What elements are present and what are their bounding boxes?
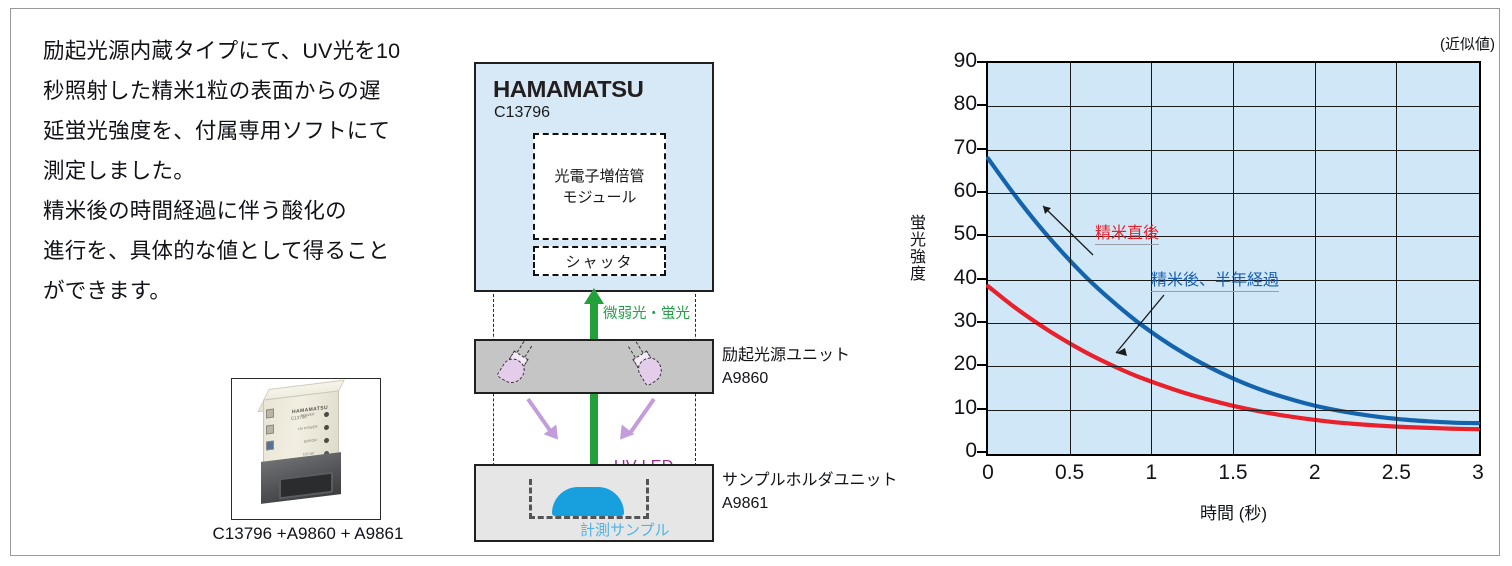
- chart-y-tick-mark: [977, 408, 986, 410]
- chart-plot-area: [986, 61, 1481, 456]
- excitation-unit-label: 励起光源ユニット A9860: [722, 344, 850, 390]
- description-line-5: 精米後の時間経過に伴う酸化の: [43, 191, 443, 231]
- product-photo-port-3: [266, 441, 274, 451]
- chart-y-tick-mark: [977, 148, 986, 150]
- chart-y-tick-mark: [977, 451, 986, 453]
- chart-y-tick-mark: [977, 321, 986, 323]
- description-text-block: 励起光源内蔵タイプにて、UV光を10 秒照射した精米1粒の表面からの遅 延蛍光強…: [43, 31, 443, 311]
- chart-y-tick-label: 90: [937, 49, 977, 73]
- chart-y-tick-label: 20: [937, 352, 977, 376]
- chart-y-tick-label: 40: [937, 266, 977, 290]
- chart-gridline-vertical: [1151, 63, 1152, 454]
- chart-y-tick-label: 80: [937, 92, 977, 116]
- product-photo-port-2: [266, 425, 274, 435]
- fluorescence-decay-chart: (近似値) 蛍光強度 時間 (秒) 精米直後 精米後、半年経過 01020304…: [901, 29, 1501, 549]
- chart-y-tick-mark: [977, 234, 986, 236]
- schematic-diagram: HAMAMATSU C13796 光電子増倍管モジュール シャッタ 微弱光・蛍光: [466, 54, 916, 549]
- uv-beam-right: [628, 398, 655, 435]
- chart-x-tick-label: 2.5: [1366, 461, 1426, 485]
- chart-gridline-vertical: [1396, 63, 1397, 454]
- annotation-direct-after-polishing: 精米直後: [1095, 219, 1159, 245]
- chart-approx-note: (近似値): [1440, 33, 1495, 54]
- product-photo-port-1: [266, 409, 274, 419]
- shutter-box: シャッタ: [533, 246, 666, 276]
- figure-frame: 励起光源内蔵タイプにて、UV光を10 秒照射した精米1粒の表面からの遅 延蛍光強…: [10, 8, 1500, 556]
- product-photo-caption: C13796 +A9860 + A9861: [158, 524, 458, 544]
- description-line-1: 励起光源内蔵タイプにて、UV光を10: [43, 31, 443, 71]
- chart-gridline-vertical: [1233, 63, 1234, 454]
- main-detector-unit-box: HAMAMATSU C13796 光電子増倍管モジュール シャッタ: [474, 62, 714, 292]
- chart-x-tick-label: 0: [958, 461, 1018, 485]
- excitation-unit-model: A9860: [722, 370, 768, 387]
- sample-holder-unit-label: サンプルホルダユニット A9861: [722, 469, 898, 515]
- leader-line-blue: [1116, 295, 1164, 353]
- description-line-7: ができます。: [43, 271, 443, 311]
- main-unit-model-label: C13796: [494, 104, 550, 122]
- description-line-3: 延蛍光強度を、付属専用ソフトにて: [43, 111, 443, 151]
- chart-x-tick-label: 3: [1448, 461, 1508, 485]
- chart-y-tick-mark: [977, 191, 986, 193]
- chart-y-tick-label: 0: [937, 439, 977, 463]
- chart-x-tick-label: 1: [1121, 461, 1181, 485]
- chart-y-tick-label: 30: [937, 309, 977, 333]
- chart-y-tick-label: 10: [937, 396, 977, 420]
- pmt-module-label: 光電子増倍管モジュール: [554, 166, 644, 208]
- chart-y-axis-title: 蛍光強度: [903, 214, 927, 282]
- product-photo: HAMAMATSU C13796 POWER HV POWER ERROR CO…: [231, 378, 381, 520]
- chart-gridline-vertical: [1070, 63, 1071, 454]
- sample-holder-unit-model: A9861: [722, 495, 768, 512]
- chart-y-tick-label: 70: [937, 136, 977, 160]
- excitation-unit-name: 励起光源ユニット: [722, 347, 850, 364]
- fluorescence-label: 微弱光・蛍光: [603, 302, 690, 323]
- chart-x-axis-title: 時間 (秒): [986, 499, 1481, 524]
- pmt-module-label-line2: モジュール: [563, 189, 637, 206]
- chart-y-tick-mark: [977, 104, 986, 106]
- chart-y-tick-mark: [977, 364, 986, 366]
- description-line-6: 進行を、具体的な値として得ること: [43, 231, 443, 271]
- chart-x-tick-label: 0.5: [1040, 461, 1100, 485]
- description-line-4: 測定しました。: [43, 151, 443, 191]
- chart-y-tick-label: 50: [937, 222, 977, 246]
- measurement-sample-label: 計測サンプル: [580, 519, 670, 540]
- chart-x-tick-label: 1.5: [1203, 461, 1263, 485]
- sample-holder-unit-name: サンプルホルダユニット: [722, 472, 898, 489]
- measurement-sample: [552, 487, 624, 516]
- chart-y-tick-mark: [977, 61, 986, 63]
- chart-x-tick-label: 2: [1285, 461, 1345, 485]
- shutter-label: シャッタ: [565, 251, 633, 272]
- leader-line-red: [1043, 206, 1093, 255]
- chart-y-tick-mark: [977, 278, 986, 280]
- pmt-module-label-line1: 光電子増倍管: [554, 168, 644, 185]
- annotation-six-months-after: 精米後、半年経過: [1151, 266, 1279, 292]
- pmt-module-box: 光電子増倍管モジュール: [533, 133, 666, 240]
- chart-y-tick-label: 60: [937, 179, 977, 203]
- chart-gridline-vertical: [1315, 63, 1316, 454]
- hamamatsu-logo: HAMAMATSU: [493, 76, 643, 103]
- description-line-2: 秒照射した精米1粒の表面からの遅: [43, 71, 443, 111]
